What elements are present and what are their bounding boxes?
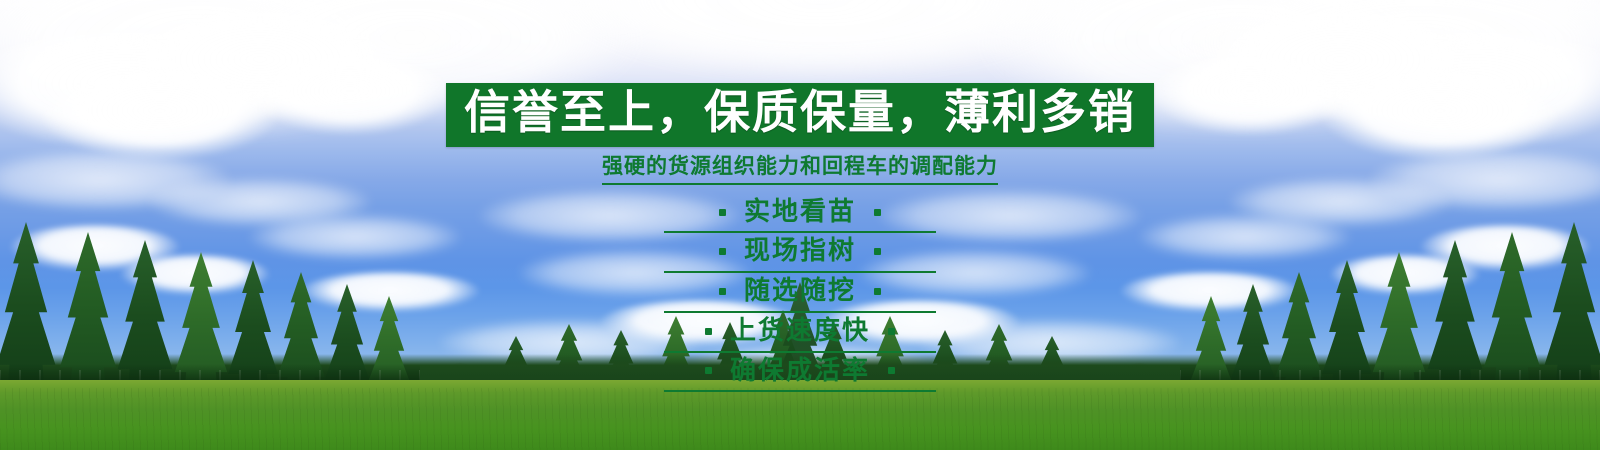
bullet-dot-icon bbox=[719, 248, 726, 255]
feature-item: 上货速度快 bbox=[664, 313, 936, 353]
bullet-dot-icon bbox=[874, 248, 881, 255]
feature-label: 随选随挖 bbox=[744, 276, 856, 307]
bullet-dot-icon bbox=[719, 288, 726, 295]
promotional-banner: 信誉至上，保质保量，薄利多销 强硬的货源组织能力和回程车的调配能力 实地看苗 现… bbox=[0, 0, 1600, 450]
bullet-dot-icon bbox=[705, 367, 712, 374]
headline-text: 信誉至上，保质保量，薄利多销 bbox=[464, 87, 1136, 139]
headline-banner: 信誉至上，保质保量，薄利多销 bbox=[446, 83, 1154, 147]
feature-label: 现场指树 bbox=[744, 236, 856, 267]
feature-item: 确保成活率 bbox=[664, 353, 936, 393]
bullet-dot-icon bbox=[888, 367, 895, 374]
bullet-dot-icon bbox=[705, 328, 712, 335]
feature-item: 实地看苗 bbox=[664, 194, 936, 234]
bullet-dot-icon bbox=[888, 328, 895, 335]
feature-item: 随选随挖 bbox=[664, 273, 936, 313]
bullet-dot-icon bbox=[719, 209, 726, 216]
bullet-dot-icon bbox=[874, 209, 881, 216]
feature-label: 确保成活率 bbox=[730, 356, 870, 387]
feature-label: 实地看苗 bbox=[744, 197, 856, 228]
feature-item: 现场指树 bbox=[664, 233, 936, 273]
feature-label: 上货速度快 bbox=[730, 316, 870, 347]
subtitle-text: 强硬的货源组织能力和回程车的调配能力 bbox=[602, 153, 998, 185]
feature-list: 实地看苗 现场指树 随选随挖 上货速度快 确保成活率 bbox=[664, 194, 936, 392]
banner-content: 信誉至上，保质保量，薄利多销 强硬的货源组织能力和回程车的调配能力 实地看苗 现… bbox=[0, 0, 1600, 450]
bullet-dot-icon bbox=[874, 288, 881, 295]
